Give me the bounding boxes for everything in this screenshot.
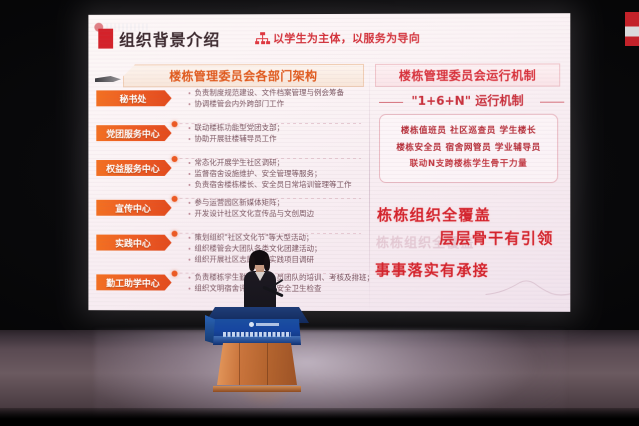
podium-seam-right <box>267 343 268 385</box>
projection-screen: 组织背景介绍 以学生为主体，以服务为导向 楼栋管理委员会各部门架构 <box>88 13 570 312</box>
right-panel-header: 楼栋管理委员会运行机制 <box>375 63 560 86</box>
projector-scanline <box>88 53 570 55</box>
department-duty-item: 常态化开展学生社区调研； <box>188 158 364 169</box>
projector-scanline <box>88 166 570 167</box>
podium-seam-left <box>239 343 240 385</box>
mechanism-role-box: 楼栋值班员 社区巡查员 学生楼长楼栋安全员 宿舍网管员 学业辅导员联动N支跨楼栋… <box>379 114 558 183</box>
department-duty-item: 参与运营园区新媒体矩阵； <box>188 198 364 209</box>
speaker-hair-left <box>249 256 255 271</box>
department-duty-item: 联动楼栋功能型党团支部； <box>188 123 364 134</box>
department-duty-item: 协调楼管会内外跨部门工作 <box>188 99 364 110</box>
projector-scanline <box>88 49 570 51</box>
projector-scanline <box>88 57 570 59</box>
podium-university-logo <box>249 321 279 327</box>
podium-base <box>213 386 301 392</box>
projector-scanline <box>88 45 570 47</box>
projector-scanline <box>88 154 570 155</box>
podium-seal-icon <box>249 322 254 327</box>
slide-canvas: 组织背景介绍 以学生为主体，以服务为导向 楼栋管理委员会各部门架构 <box>88 13 570 312</box>
projector-scanline <box>88 162 570 163</box>
podium-wooden-column <box>217 343 297 385</box>
speaker-hair-right <box>264 256 270 271</box>
projector-scanline <box>88 142 570 143</box>
corner-flag-accent <box>625 12 639 46</box>
podium-front-panel <box>213 319 301 345</box>
projector-scanline <box>88 17 570 20</box>
lectern-podium <box>205 307 309 389</box>
stage-front-edge <box>0 408 639 426</box>
department-row: 勤工助学中心负责楼栋学生勤工助学人员团队的培训、考核及排班；组织文明宿舍评比与社… <box>94 274 365 308</box>
projector-scanline <box>88 170 570 171</box>
projector-scanline <box>88 146 570 147</box>
projector-scanline <box>88 150 570 151</box>
projector-scanline <box>88 21 570 24</box>
department-row: 宣传中心参与运营园区新媒体矩阵；开发设计社区文化宣传品与文创周边 <box>94 200 365 233</box>
department-duty-item: 协助开展驻楼辅导员工作 <box>188 134 364 145</box>
projector-scanline <box>88 25 570 28</box>
auditorium-scene: 组织背景介绍 以学生为主体，以服务为导向 楼栋管理委员会各部门架构 <box>0 0 639 426</box>
projector-scanline <box>88 178 570 179</box>
projector-scanline <box>88 158 570 159</box>
podium-logo-text <box>256 323 279 326</box>
projector-scanline <box>88 174 570 175</box>
left-panel-header: 楼栋管理委员会各部门架构 <box>123 64 364 87</box>
